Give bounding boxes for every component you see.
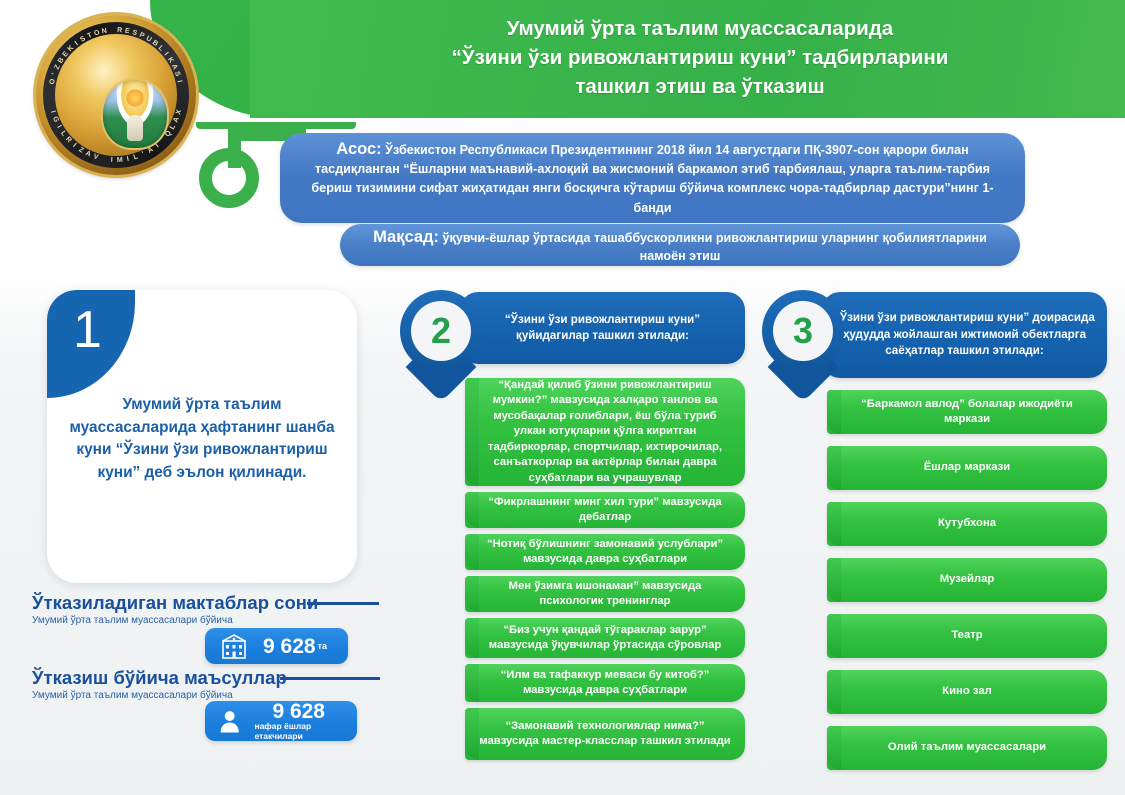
key-ring-decoration bbox=[199, 148, 259, 208]
list-item[interactable]: Кутубхона bbox=[827, 502, 1107, 546]
card-1: 1 Умумий ўрта таълим муассасаларида ҳафт… bbox=[47, 290, 357, 583]
list-item[interactable]: “Нотиқ бўлишнинг замонавий услублари” ма… bbox=[465, 534, 745, 570]
list-item-label: “Қандай қилиб ўзини ривожлантириш мумкин… bbox=[479, 378, 731, 487]
stat-1-value-wrap: 9 628 нафар ёшлар етакчилари bbox=[254, 701, 343, 741]
column-3-pin-badge: 3 bbox=[762, 290, 844, 394]
list-item[interactable]: Мен ўзимга ишонаман” мавзусида психологи… bbox=[465, 576, 745, 612]
stat-0-value: 9 628 bbox=[263, 636, 316, 657]
card-1-text: Умумий ўрта таълим муассасаларида ҳафтан… bbox=[65, 394, 339, 484]
emblem-ring-char: X bbox=[174, 108, 183, 115]
stat-1-title: Ўтказиш бўйича маъсуллар bbox=[32, 667, 287, 689]
emblem-ring-char: L bbox=[132, 152, 139, 161]
page-title-line3: ташкил этиш ва ўтказиш bbox=[290, 72, 1110, 101]
list-item-label: “Баркамол авлод” болалар ижодиёти марказ… bbox=[841, 397, 1093, 428]
list-item[interactable]: “Фикрлашнинг минг хил тури” мавзусида де… bbox=[465, 492, 745, 528]
list-item-label: Театр bbox=[951, 628, 982, 644]
school-icon bbox=[219, 633, 249, 659]
stat-1-value: 9 628 bbox=[272, 701, 325, 722]
emblem-ring-char: ' bbox=[141, 150, 146, 158]
stat-0-rule bbox=[307, 602, 379, 605]
list-item[interactable]: “Баркамол авлод” болалар ижодиёти марказ… bbox=[827, 390, 1107, 434]
list-item-label: “Фикрлашнинг минг хил тури” мавзусида де… bbox=[479, 495, 731, 526]
emblem-inner-disc bbox=[55, 34, 177, 156]
column-2-number: 2 bbox=[411, 301, 471, 361]
list-item[interactable]: “Замонавий технологиялар нима?” мавзусид… bbox=[465, 708, 745, 760]
asos-box: Асос: Ўзбекистон Республикаси Президенти… bbox=[280, 133, 1025, 223]
list-item-label: Олий таълим муассасалари bbox=[888, 740, 1046, 756]
page-title: Умумий ўрта таълим муассасаларида “Ўзини… bbox=[290, 14, 1110, 101]
list-item[interactable]: “Илм ва тафаккур меваси бу китоб?” мавзу… bbox=[465, 664, 745, 702]
infographic-page: Умумий ўрта таълим муассасаларида “Ўзини… bbox=[0, 0, 1125, 795]
emblem-ring-char: R bbox=[117, 26, 123, 34]
card-1-number: 1 bbox=[73, 304, 102, 356]
asos-label: Асос: bbox=[336, 140, 381, 158]
list-item-label: “Нотиқ бўлишнинг замонавий услублари” ма… bbox=[479, 537, 731, 568]
list-item[interactable]: Ёшлар маркази bbox=[827, 446, 1107, 490]
maqsad-label: Мақсад: bbox=[373, 228, 439, 246]
list-item[interactable]: Музейлар bbox=[827, 558, 1107, 602]
list-item[interactable]: Кино зал bbox=[827, 670, 1107, 714]
emblem-ring-char bbox=[102, 155, 106, 163]
list-item-label: “Биз учун қандай тўгараклар зарур” мавзу… bbox=[479, 623, 731, 654]
stat-1-caption: нафар ёшлар етакчилари bbox=[254, 722, 343, 741]
stat-0-subtitle: Умумий ўрта таълим муассасалари бўйича bbox=[32, 615, 233, 626]
list-item[interactable]: “Биз учун қандай тўгараклар зарур” мавзу… bbox=[465, 618, 745, 658]
stat-0-unit: та bbox=[318, 641, 327, 651]
list-item-label: Кино зал bbox=[942, 684, 992, 700]
column-2-heading: “Ўзини ўзи ривожлантириш куни” қуйидагил… bbox=[460, 292, 745, 364]
list-item-label: Кутубхона bbox=[938, 516, 996, 532]
emblem-ring-char: I bbox=[175, 79, 183, 83]
maqsad-box: Мақсад: ўқувчи-ёшлар ўртасида ташаббуско… bbox=[340, 224, 1020, 266]
list-item-label: “Замонавий технологиялар нима?” мавзусид… bbox=[479, 719, 731, 750]
maqsad-text: ўқувчи-ёшлар ўртасида ташаббускорликни р… bbox=[439, 231, 987, 263]
asos-text: Ўзбекистон Республикаси Президентининг 2… bbox=[311, 143, 993, 215]
emblem-ring-char bbox=[111, 26, 114, 34]
page-title-line1: Умумий ўрта таълим муассасаларида bbox=[290, 14, 1110, 43]
list-item-label: “Илм ва тафаккур меваси бу китоб?” мавзу… bbox=[479, 668, 731, 699]
ministry-emblem-icon: O'ZBEKISTON RESPUBLIKASIXALQ TA'LIMI VAZ… bbox=[36, 15, 196, 175]
list-item[interactable]: Олий таълим муассасалари bbox=[827, 726, 1107, 770]
stat-1-subtitle: Умумий ўрта таълим муассасалари бўйича bbox=[32, 690, 233, 701]
emblem-ring-char: I bbox=[111, 156, 114, 164]
stat-1-box: 9 628 нафар ёшлар етакчилари bbox=[205, 701, 357, 741]
column-3-heading: “Ўзини ўзи ривожлантириш куни” доирасида… bbox=[822, 292, 1107, 378]
list-item[interactable]: “Қандай қилиб ўзини ривожлантириш мумкин… bbox=[465, 378, 745, 486]
emblem-ring-char: M bbox=[117, 156, 124, 164]
list-item[interactable]: Театр bbox=[827, 614, 1107, 658]
emblem-ring-char: I bbox=[126, 155, 130, 163]
person-icon bbox=[219, 707, 240, 735]
stat-1-rule bbox=[280, 677, 380, 680]
stat-0-title: Ўтказиладиган мактаблар сони bbox=[32, 592, 318, 614]
stat-0-box: 9 628 та bbox=[205, 628, 348, 664]
emblem-crest-icon bbox=[101, 78, 169, 150]
list-item-label: Музейлар bbox=[940, 572, 995, 588]
page-title-line2: “Ўзини ўзи ривожлантириш куни” тадбирлар… bbox=[290, 43, 1110, 72]
column-3-number: 3 bbox=[773, 301, 833, 361]
list-item-label: Ёшлар маркази bbox=[924, 460, 1011, 476]
list-item-label: Мен ўзимга ишонаман” мавзусида психологи… bbox=[479, 579, 731, 610]
